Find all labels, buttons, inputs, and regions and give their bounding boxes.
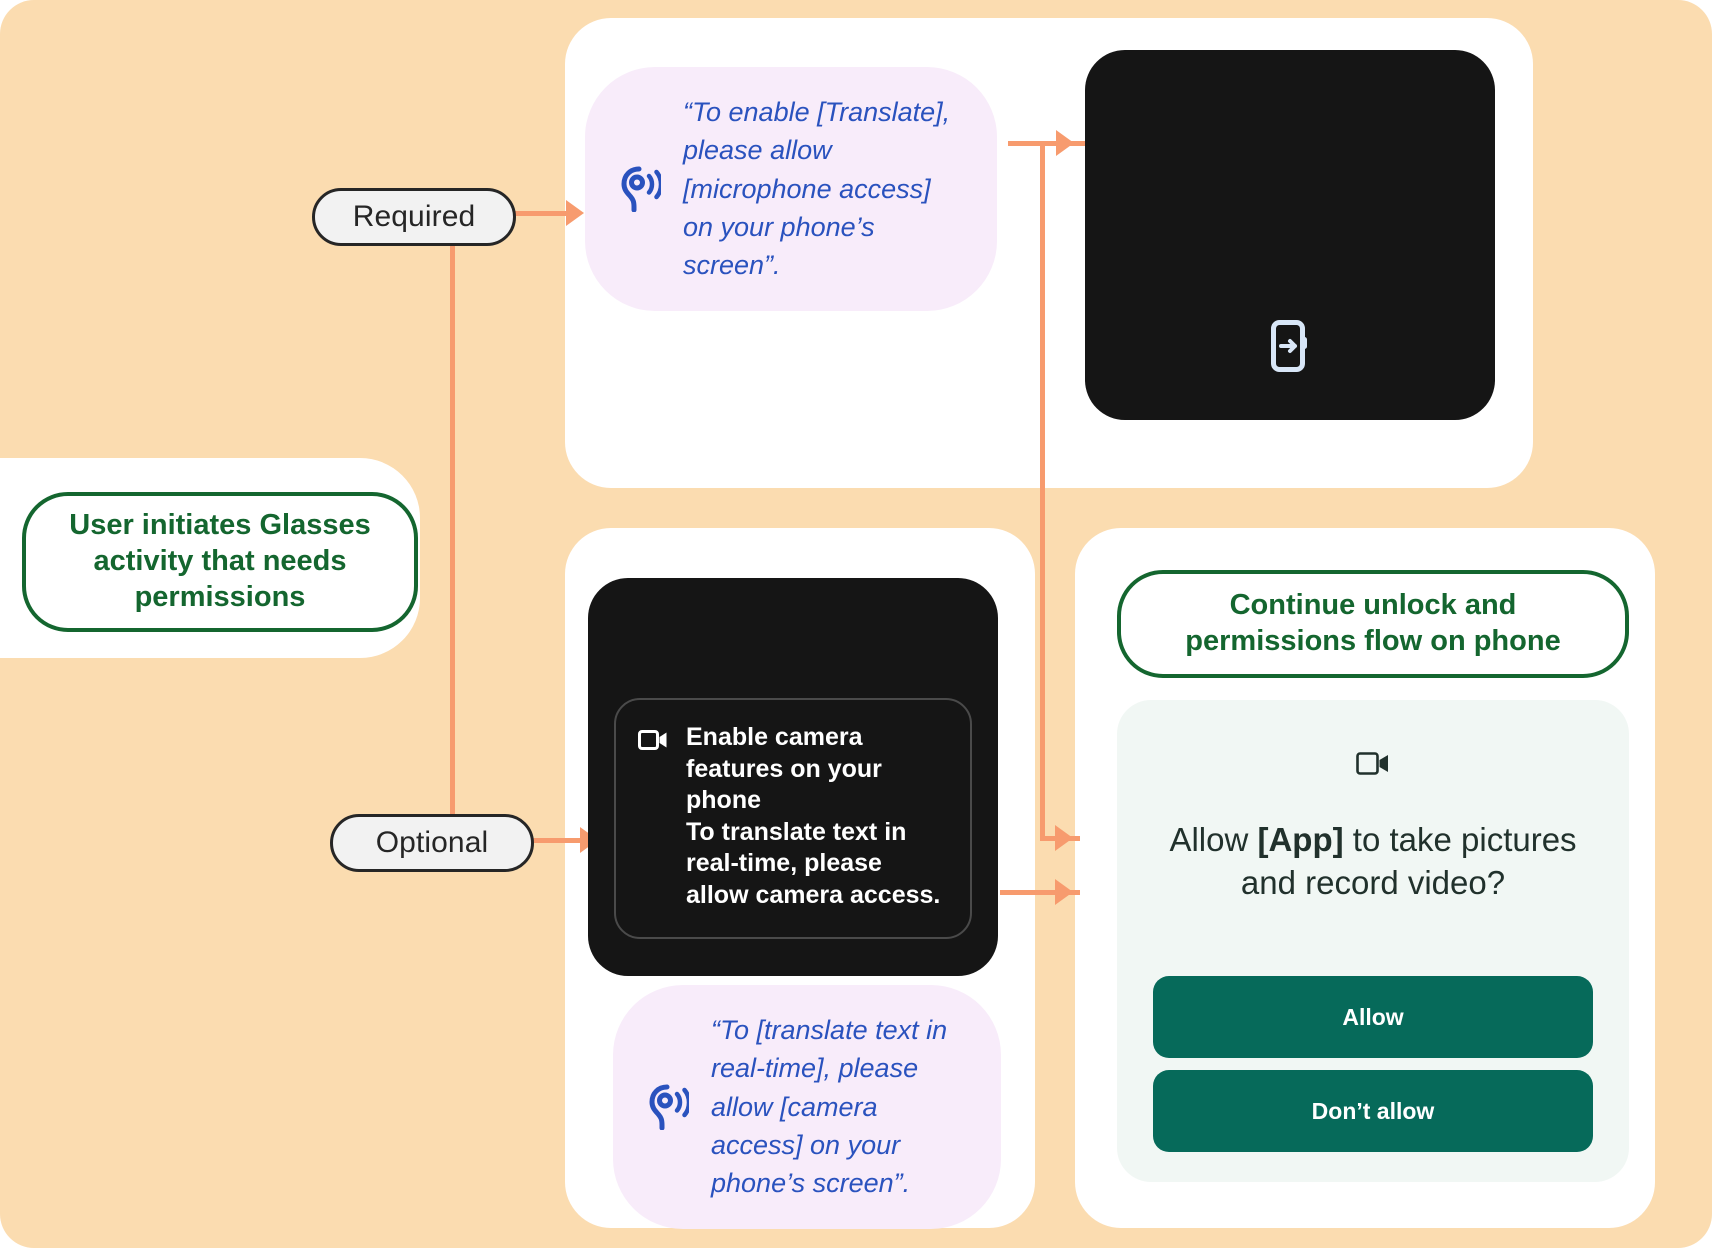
start-node: User initiates Glasses activity that nee…	[22, 492, 418, 632]
permission-dialog-buttons: Allow Don’t allow	[1153, 976, 1593, 1152]
connector-trunk-vertical	[450, 212, 455, 837]
permission-question-app: [App]	[1257, 821, 1343, 858]
allow-button[interactable]: Allow	[1153, 976, 1593, 1058]
connector-phone-flow-arrowhead-lower	[1055, 879, 1073, 905]
diagram-canvas: User initiates Glasses activity that nee…	[0, 0, 1712, 1248]
audio-bubble-required-text: “To enable [Translate], please allow [mi…	[683, 93, 963, 285]
glasses-screen-camera: Enable camera features on your phone To …	[588, 578, 998, 976]
audio-bubble-optional: “To [translate text in real-time], pleas…	[613, 985, 1001, 1229]
audio-bubble-optional-text: “To [translate text in real-time], pleas…	[711, 1011, 967, 1203]
connector-glasses-arrowhead	[1056, 130, 1074, 156]
connector-required-arrowhead	[566, 200, 584, 226]
camera-icon	[1356, 750, 1390, 777]
deny-button[interactable]: Don’t allow	[1153, 1070, 1593, 1152]
camera-icon	[638, 728, 668, 752]
connector-long-vertical	[1040, 141, 1045, 838]
connector-phone-flow-arrowhead-upper	[1055, 825, 1073, 851]
glasses-screen-unlock	[1085, 50, 1495, 420]
notification-title: Enable camera features on your phone	[686, 722, 946, 817]
notification-description: To translate text in real-time, please a…	[686, 817, 946, 912]
permission-question-prefix: Allow	[1169, 821, 1257, 858]
branch-pill-optional[interactable]: Optional	[330, 814, 534, 872]
phone-permission-dialog: Allow [App] to take pictures and record …	[1117, 700, 1629, 1182]
ear-audio-icon	[619, 166, 661, 212]
permission-question: Allow [App] to take pictures and record …	[1153, 819, 1593, 905]
camera-permission-notification: Enable camera features on your phone To …	[614, 698, 972, 939]
audio-bubble-required: “To enable [Translate], please allow [mi…	[585, 67, 997, 311]
branch-pill-required[interactable]: Required	[312, 188, 516, 246]
continue-phone-flow-node: Continue unlock and permissions flow on …	[1117, 570, 1629, 678]
phone-unlock-icon	[1271, 320, 1309, 372]
ear-audio-icon	[647, 1084, 689, 1130]
